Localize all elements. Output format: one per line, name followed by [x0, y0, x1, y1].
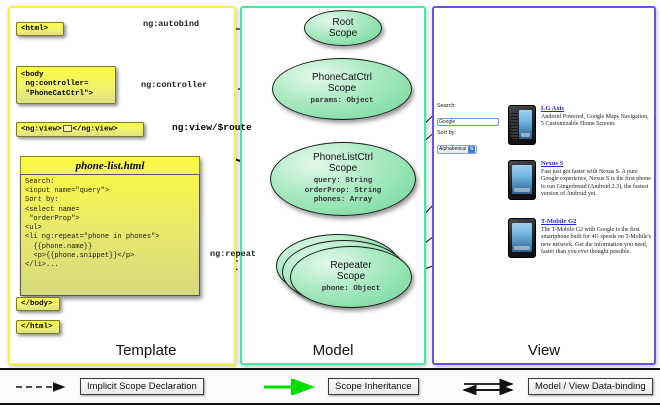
scope-phonelist-title: PhoneListCtrl Scope — [313, 152, 373, 174]
phone-info: T-Mobile G2 The T-Mobile G2 with Google … — [541, 218, 652, 258]
scope-phonecat-title-line2: Scope — [328, 83, 356, 94]
scope-phonelist-title-line1: PhoneListCtrl — [313, 152, 373, 163]
scope-repeater: Repeater Scope phone: Object — [290, 246, 412, 308]
phone-list-html-note: phone-list.html Search: <input name="que… — [20, 156, 200, 296]
phone-list-item: LG Axis Android Powered, Google Maps Nav… — [508, 105, 652, 145]
sort-control: Sort by: Alphabetical ⇅ — [437, 130, 503, 155]
scope-root-title-line2: Scope — [329, 28, 357, 39]
legend-label: Model / View Data-binding — [528, 378, 653, 395]
scope-root-title: Root Scope — [329, 17, 357, 39]
legend-item-implicit-scope: Implicit Scope Declaration — [14, 378, 204, 395]
edge-label-ng-view-route: ng:view/$route — [172, 122, 252, 133]
phone-thumbnail-icon — [508, 105, 536, 145]
scope-phonecat-title: PhoneCatCtrl Scope — [312, 72, 372, 94]
body-close-tag: </body> — [16, 297, 60, 311]
legend-item-scope-inheritance: Scope Inheritance — [262, 378, 419, 395]
html-close-tag: </html> — [16, 320, 60, 334]
scope-repeater-title: Repeater Scope — [330, 260, 371, 282]
body-open-tag: <body ng:controller= "PhoneCatCtrl"> — [16, 66, 116, 104]
chevron-updown-icon: ⇅ — [468, 146, 475, 153]
scope-phonelist-props: query: String orderProp: String phones: … — [305, 177, 382, 206]
note-title: phone-list.html — [20, 156, 200, 174]
view-search-form: Search: Sort by: Alphabetical ⇅ — [437, 103, 503, 155]
edge-label-ng-controller: ng:controller — [141, 80, 207, 90]
scope-phonelist: PhoneListCtrl Scope query: String orderP… — [270, 142, 416, 216]
architecture-diagram: Template <html> <body ng:controller= "Ph… — [0, 0, 660, 368]
phone-thumbnail-icon — [508, 160, 536, 200]
phone-snippet: Android Powered, Google Maps Navigation,… — [541, 114, 652, 129]
ngview-open-label: <ng:view> — [21, 125, 62, 133]
template-column-label: Template — [10, 342, 234, 359]
ngview-close-label: </ng:view> — [73, 125, 118, 133]
scope-root: Root Scope — [304, 10, 382, 46]
edge-label-ng-repeat: ng:repeat — [210, 249, 256, 259]
phone-snippet: The T-Mobile G2 with Google is the first… — [541, 227, 652, 257]
dashed-arrow-icon — [14, 379, 74, 395]
scope-phonecat: PhoneCatCtrl Scope params: Object — [272, 58, 412, 120]
scope-repeater-title-line2: Scope — [337, 271, 365, 282]
ngview-tag: <ng:view></ng:view> — [16, 122, 144, 137]
phone-name-link[interactable]: Nexus S — [541, 160, 652, 167]
scope-repeater-props: phone: Object — [322, 285, 381, 295]
phone-name-link[interactable]: T-Mobile G2 — [541, 218, 652, 225]
note-code: Search: <input name="query"> Sort by: <s… — [20, 174, 200, 296]
legend: Implicit Scope Declaration Scope Inherit… — [0, 368, 660, 405]
phone-list-item: Nexus S Fast just got faster with Nexus … — [508, 160, 652, 200]
sort-select-value: Alphabetical — [439, 146, 466, 152]
phone-snippet: Fast just got faster with Nexus S. A pur… — [541, 169, 652, 199]
phone-thumbnail-icon — [508, 218, 536, 258]
view-column-label: View — [434, 342, 654, 359]
phone-list-item: T-Mobile G2 The T-Mobile G2 with Google … — [508, 218, 652, 258]
legend-label: Implicit Scope Declaration — [80, 378, 204, 395]
phone-info: Nexus S Fast just got faster with Nexus … — [541, 160, 652, 200]
scope-root-title-line1: Root — [332, 17, 353, 28]
sort-label: Sort by: — [437, 130, 503, 136]
phone-name-link[interactable]: LG Axis — [541, 105, 652, 112]
model-column-label: Model — [242, 342, 424, 359]
scope-phonecat-title-line1: PhoneCatCtrl — [312, 72, 372, 83]
ngview-slot-icon — [63, 125, 72, 132]
scope-repeater-title-line1: Repeater — [330, 260, 371, 271]
search-input[interactable] — [437, 118, 499, 126]
double-arrow-icon — [462, 379, 522, 395]
legend-label: Scope Inheritance — [328, 378, 419, 395]
scope-phonelist-title-line2: Scope — [329, 163, 357, 174]
search-label: Search: — [437, 103, 503, 109]
phone-info: LG Axis Android Powered, Google Maps Nav… — [541, 105, 652, 145]
html-open-tag: <html> — [16, 22, 64, 36]
legend-item-data-binding: Model / View Data-binding — [462, 378, 653, 395]
green-arrow-icon — [262, 379, 322, 395]
scope-phonecat-props: params: Object — [310, 97, 373, 107]
sort-select[interactable]: Alphabetical ⇅ — [437, 145, 477, 154]
edge-label-ng-autobind: ng:autobind — [143, 19, 199, 29]
